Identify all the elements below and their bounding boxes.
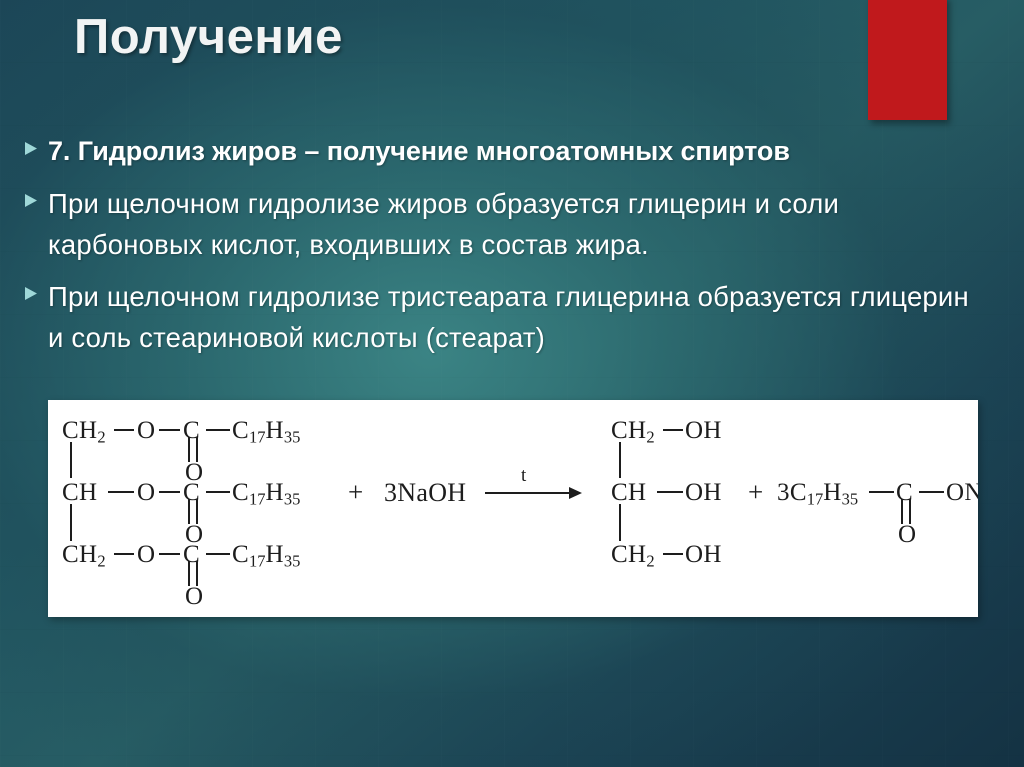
page-title: Получение xyxy=(74,9,343,65)
bond xyxy=(70,504,72,541)
sub-17: 17 xyxy=(249,552,266,571)
chemical-equation-panel: CH2 O C C17H35 O CH O C C17H35 O xyxy=(48,400,978,617)
sub-35: 35 xyxy=(284,490,301,509)
sub-2: 2 xyxy=(97,552,105,571)
bond xyxy=(114,429,134,431)
atom-glycerol-oh-3: OH xyxy=(685,542,722,567)
atom-carbonyl-o-3: O xyxy=(185,584,203,609)
list-item: 7. Гидролиз жиров – получение многоатомн… xyxy=(18,131,988,172)
reaction-arrow-head xyxy=(569,487,582,499)
reaction-arrow-line xyxy=(485,492,571,494)
atom-glycerol-oh-2: OH xyxy=(685,480,722,505)
atom-chain-c17h35-2: C17H35 xyxy=(232,480,300,512)
bond xyxy=(159,429,180,431)
bond xyxy=(70,442,72,478)
bond xyxy=(108,491,134,493)
sub-35: 35 xyxy=(842,490,859,509)
bond xyxy=(206,491,230,493)
bond xyxy=(159,553,180,555)
slide: Получение 7. Гидролиз жиров – получение … xyxy=(0,0,1024,767)
atom-backbone-ch2-3: CH2 xyxy=(62,542,106,574)
sub-17: 17 xyxy=(807,490,824,509)
arrow-label-temperature: t xyxy=(521,466,526,485)
bullet-text-2: При щелочном гидролизе жиров образуется … xyxy=(48,183,988,265)
bond xyxy=(663,553,683,555)
sub-35: 35 xyxy=(284,552,301,571)
plus-sign-2: + xyxy=(748,479,763,506)
plus-sign-1: + xyxy=(348,479,363,506)
coefficient-3: 3 xyxy=(777,479,790,506)
reagent-naoh: 3NaOH xyxy=(384,480,466,505)
chemical-equation: CH2 O C C17H35 O CH O C C17H35 O xyxy=(48,400,978,617)
bond xyxy=(114,553,134,555)
atom-chain-c17h35-3: C17H35 xyxy=(232,542,300,574)
bond xyxy=(206,553,230,555)
bond xyxy=(159,491,180,493)
sub-17: 17 xyxy=(249,490,266,509)
bond xyxy=(663,429,683,431)
list-item: При щелочном гидролизе жиров образуется … xyxy=(18,183,988,265)
atom-ester-o-1: O xyxy=(137,418,155,443)
atom-ester-o-2: O xyxy=(137,480,155,505)
bullet-text-3: При щелочном гидролизе тристеарата глице… xyxy=(48,276,988,358)
triangle-right-icon xyxy=(18,183,48,209)
atom-ester-o-3: O xyxy=(137,542,155,567)
atom-glycerol-ch-2: CH xyxy=(611,480,646,505)
atom-chain-c17h35-1: C17H35 xyxy=(232,418,300,450)
bond xyxy=(657,491,683,493)
triangle-right-icon xyxy=(18,131,48,157)
sub-2: 2 xyxy=(646,552,654,571)
list-item: При щелочном гидролизе тристеарата глице… xyxy=(18,276,988,358)
red-accent-bar xyxy=(868,0,947,120)
sub-2: 2 xyxy=(97,428,105,447)
atom-backbone-ch2-1: CH2 xyxy=(62,418,106,450)
bullet-text-1: 7. Гидролиз жиров – получение многоатомн… xyxy=(48,131,988,172)
bond xyxy=(206,429,230,431)
bullet-list: 7. Гидролиз жиров – получение многоатомн… xyxy=(18,131,988,369)
bond xyxy=(869,491,894,493)
sub-35: 35 xyxy=(284,428,301,447)
bond xyxy=(619,442,621,478)
sub-2: 2 xyxy=(646,428,654,447)
atom-stearate-carbonyl-o: O xyxy=(898,522,916,547)
triangle-right-icon xyxy=(18,276,48,302)
atom-glycerol-oh-1: OH xyxy=(685,418,722,443)
atom-backbone-ch-2: CH xyxy=(62,480,97,505)
bond xyxy=(619,504,621,541)
atom-stearate-ona: ONa xyxy=(946,480,978,505)
atom-glycerol-ch2-3: CH2 xyxy=(611,542,655,574)
sub-17: 17 xyxy=(249,428,266,447)
atom-stearate-chain: 3C17H35 xyxy=(777,480,858,512)
bond xyxy=(919,491,944,493)
atom-glycerol-ch2-1: CH2 xyxy=(611,418,655,450)
